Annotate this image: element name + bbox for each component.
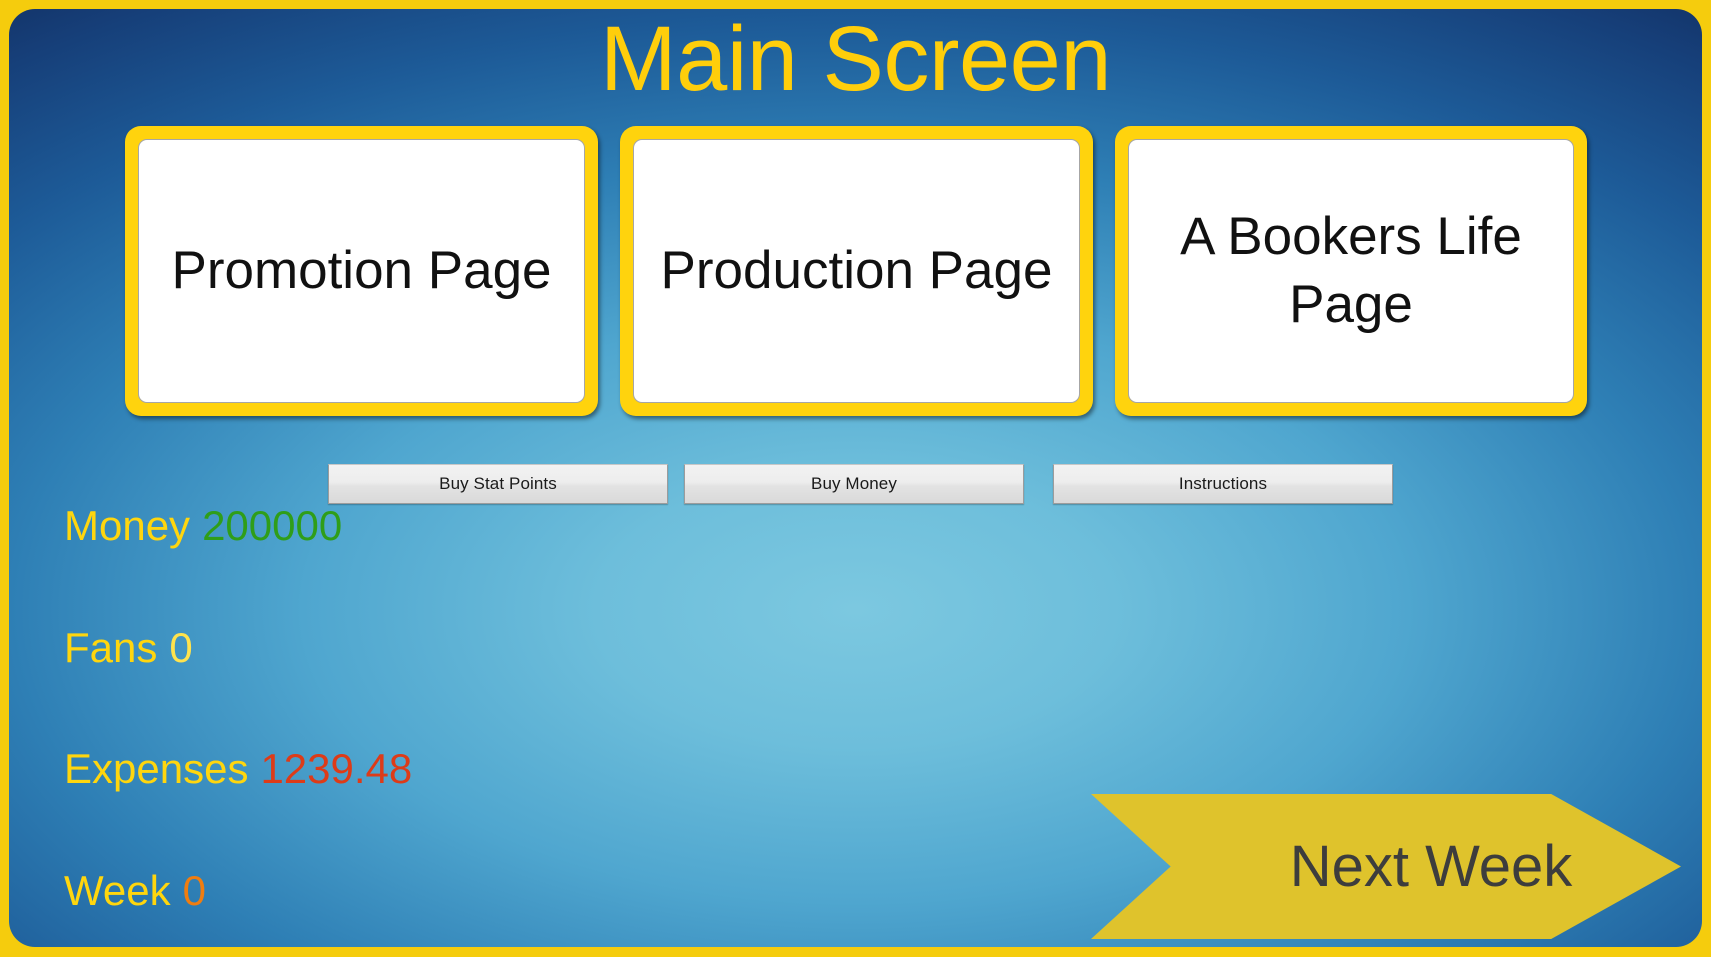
- game-screen: Main Screen Promotion Page Production Pa…: [0, 0, 1711, 957]
- buy-money-label: Buy Money: [811, 474, 897, 494]
- bookers-life-page-label: A Bookers Life Page: [1128, 139, 1574, 403]
- next-week-label: Next Week: [1290, 833, 1573, 900]
- stat-week: Week0: [64, 867, 206, 915]
- promotion-page-button[interactable]: Promotion Page: [125, 126, 598, 416]
- stat-fans: Fans0: [64, 624, 193, 672]
- slide-background: Main Screen Promotion Page Production Pa…: [9, 9, 1702, 947]
- production-page-button[interactable]: Production Page: [620, 126, 1093, 416]
- stat-expenses-value: 1239.48: [260, 745, 412, 792]
- stat-expenses-label: Expenses: [64, 745, 248, 792]
- buy-stat-points-button[interactable]: Buy Stat Points: [328, 464, 668, 504]
- stat-money-value: 200000: [202, 502, 342, 549]
- instructions-button[interactable]: Instructions: [1053, 464, 1393, 504]
- next-week-button[interactable]: Next Week: [1091, 794, 1681, 939]
- stat-week-value: 0: [183, 867, 206, 914]
- stat-money-label: Money: [64, 502, 190, 549]
- stat-money: Money200000: [64, 502, 342, 550]
- instructions-label: Instructions: [1179, 474, 1267, 494]
- promotion-page-label: Promotion Page: [138, 139, 585, 403]
- stat-fans-value: 0: [169, 624, 192, 671]
- stat-expenses: Expenses1239.48: [64, 745, 412, 793]
- buy-money-button[interactable]: Buy Money: [684, 464, 1024, 504]
- page-title: Main Screen: [9, 11, 1702, 108]
- stat-fans-label: Fans: [64, 624, 157, 671]
- buy-stat-points-label: Buy Stat Points: [439, 474, 557, 494]
- stat-week-label: Week: [64, 867, 171, 914]
- production-page-label: Production Page: [633, 139, 1080, 403]
- bookers-life-page-button[interactable]: A Bookers Life Page: [1115, 126, 1587, 416]
